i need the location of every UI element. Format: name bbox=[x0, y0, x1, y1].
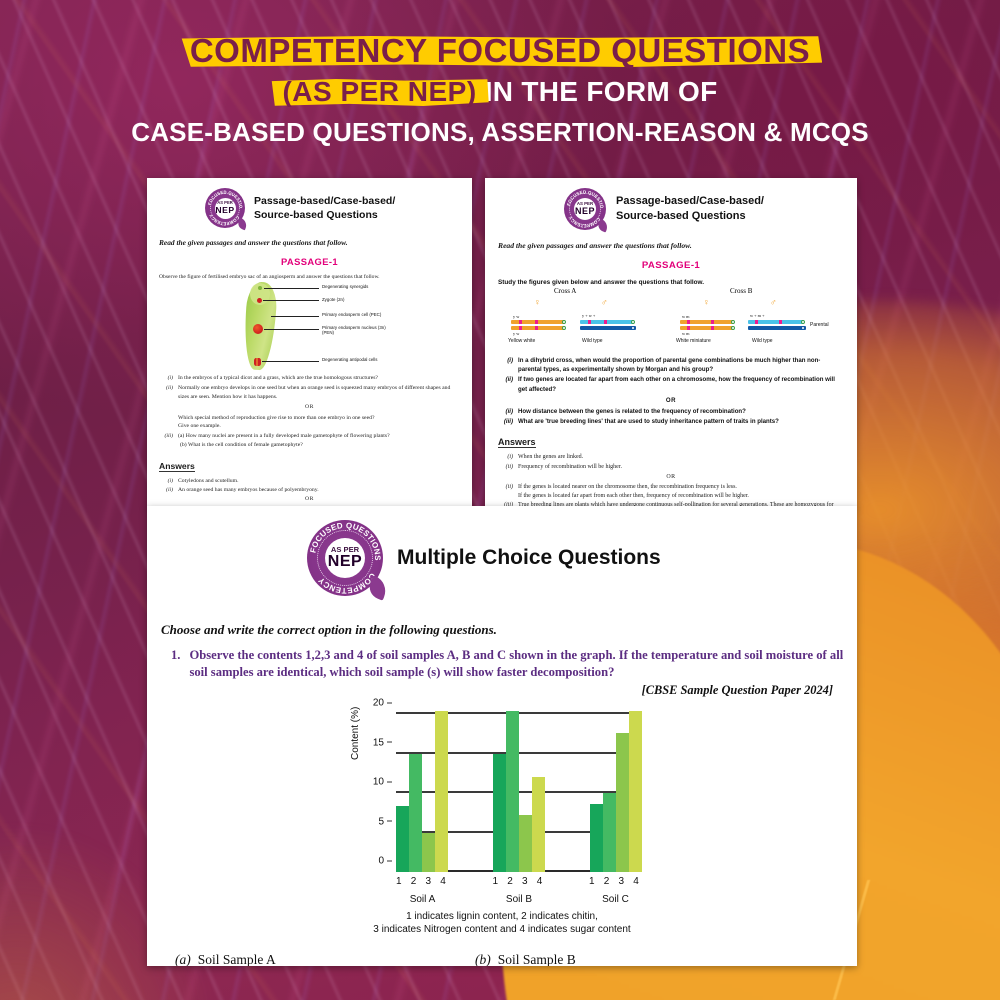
question-item: (iii) What are 'true breeding lines' tha… bbox=[498, 417, 844, 426]
chart-x-axis-labels: 1 2 3 4Soil A1 2 3 4Soil B1 2 3 4Soil C bbox=[396, 876, 642, 905]
chart-y-tick: 15 bbox=[373, 737, 392, 748]
chart-bar bbox=[435, 711, 448, 872]
header-line-3: CASE-BASED QUESTIONS, ASSERTION-REASON &… bbox=[131, 116, 869, 148]
centromere-icon bbox=[562, 326, 566, 330]
right-card-header: FOCUSED QUESTIONS COMPETENCY AS PER NEP … bbox=[498, 188, 844, 230]
nep-badge: FOCUSED QUESTIONS COMPETENCY AS PER NEP bbox=[307, 520, 383, 596]
chart-group-soil-c bbox=[590, 714, 642, 872]
female-symbol-icon: ♀ bbox=[534, 297, 541, 307]
label-zygote: Zygote (2n) bbox=[322, 297, 344, 302]
right-figure-intro: Study the figures given below and answer… bbox=[498, 279, 844, 286]
question-text: Which special method of reproduction giv… bbox=[178, 414, 460, 422]
question-text: (a) How many nuclei are present in a ful… bbox=[178, 432, 390, 440]
zygote-dot bbox=[257, 298, 262, 303]
cross-b-label: Cross B bbox=[730, 287, 752, 295]
mcq-options: (a) Soil Sample A (b) Soil Sample B (c) … bbox=[175, 952, 775, 966]
left-answers-section: Answers bbox=[159, 456, 460, 474]
nep-badge: FOCUSED QUESTIONS COMPETENCY AS PER NEP bbox=[205, 188, 245, 228]
answers-heading: Answers bbox=[498, 437, 536, 448]
centromere-icon bbox=[731, 326, 735, 330]
chart-y-tick: 5 bbox=[378, 816, 392, 827]
mcq-question-1: 1. Observe the contents 1,2,3 and 4 of s… bbox=[171, 647, 857, 681]
question-or-separator: OR bbox=[159, 403, 460, 411]
mcq-option-key: (b) bbox=[475, 952, 491, 966]
chromosome-arm bbox=[748, 326, 806, 330]
cross-b-male-phenotype: Wild type bbox=[752, 338, 773, 344]
leader-line-pec bbox=[271, 316, 319, 317]
cross-a-female-genes-bottom: y w bbox=[513, 331, 519, 336]
chart-x-sub-labels: 1 2 3 4 bbox=[396, 876, 449, 887]
question-text: If two genes are located far apart from … bbox=[518, 375, 844, 393]
cross-a-female-genes-top: y w bbox=[513, 314, 519, 319]
mcq-title: Multiple Choice Questions bbox=[397, 546, 661, 570]
leader-line-synergids bbox=[264, 288, 319, 289]
question-number: (ii) bbox=[159, 384, 173, 392]
label-pec: Primary endosperm cell (PEC) bbox=[322, 312, 382, 317]
question-number: (ii) bbox=[498, 375, 513, 384]
gene-band bbox=[604, 320, 607, 324]
answer-item: (ii) If the genes is located nearer on t… bbox=[498, 483, 844, 492]
right-card-title-line2: Source-based Questions bbox=[616, 209, 764, 224]
chart-bar bbox=[629, 711, 642, 872]
gene-band bbox=[687, 326, 690, 330]
right-questions-list: (i) In a dihybrid cross, when would the … bbox=[498, 356, 844, 426]
header-in-the-form-of: IN THE FORM OF bbox=[485, 75, 718, 109]
question-text: Normally one embryo develops in one seed… bbox=[178, 384, 460, 401]
left-passage-label: PASSAGE-1 bbox=[159, 256, 460, 267]
female-symbol-icon: ♀ bbox=[703, 297, 710, 307]
chart-x-category-label: Soil B bbox=[493, 894, 546, 905]
label-antipodal-cells: Degenerating antipodal cells bbox=[322, 357, 380, 362]
header-nep-highlight-wrap: (AS PER NEP) bbox=[282, 75, 476, 109]
centromere-icon bbox=[801, 326, 805, 330]
answer-text: Frequency of recombination will be highe… bbox=[518, 463, 622, 472]
gene-band bbox=[519, 320, 522, 324]
chart-x-sub-labels: 1 2 3 4 bbox=[589, 876, 642, 887]
chart-bar bbox=[616, 733, 629, 872]
answer-or-separator: OR bbox=[159, 495, 460, 504]
left-card-instruction: Read the given passages and answer the q… bbox=[159, 238, 460, 247]
gene-band bbox=[588, 320, 591, 324]
cross-a-label: Cross A bbox=[554, 287, 576, 295]
answer-text: When the genes are linked. bbox=[518, 453, 583, 462]
cross-b-male-genes: w + m + bbox=[750, 313, 765, 318]
page-header: COMPETENCY FOCUSED QUESTIONS (AS PER NEP… bbox=[0, 0, 1000, 165]
mcq-question-text: Observe the contents 1,2,3 and 4 of soil… bbox=[189, 647, 857, 681]
label-degenerating-synergids: Degenerating synergids bbox=[322, 284, 382, 289]
question-number: (ii) bbox=[498, 407, 513, 416]
cross-a-male-phenotype: Wild type bbox=[582, 338, 603, 344]
question-text: In the embryos of a typical dicot and a … bbox=[178, 374, 378, 382]
gene-band bbox=[519, 326, 522, 330]
cross-b-female-genes-top: w m bbox=[682, 314, 690, 319]
chart-bar bbox=[409, 754, 422, 873]
male-symbol-icon: ♂ bbox=[601, 297, 608, 307]
svg-text:COMPETENCY: COMPETENCY bbox=[208, 213, 240, 226]
left-answers-list: (i) Cotyledons and scutellum. (ii) An or… bbox=[159, 477, 460, 508]
question-or-separator: OR bbox=[498, 396, 844, 405]
gene-band bbox=[687, 320, 690, 324]
question-text: (b) What is the cell condition of female… bbox=[180, 441, 460, 449]
chart-bar bbox=[532, 777, 545, 872]
chart-note-line-2: 3 indicates Nitrogen content and 4 indic… bbox=[147, 923, 857, 936]
header-title-main: COMPETENCY FOCUSED QUESTIONS bbox=[190, 32, 810, 70]
chart-y-tick: 0 bbox=[378, 856, 392, 867]
chart-group-soil-a bbox=[396, 714, 448, 872]
question-number: (i) bbox=[498, 356, 513, 365]
centromere-icon bbox=[631, 326, 635, 330]
embryo-sac-diagram: Degenerating synergids Zygote (2n) Prima… bbox=[159, 280, 460, 372]
mcq-question-number: 1. bbox=[171, 647, 180, 681]
cross-a-male-genes: y + w + bbox=[582, 313, 595, 318]
chart-bar bbox=[396, 806, 409, 872]
chart-y-tick: 10 bbox=[373, 777, 392, 788]
right-card-instruction: Read the given passages and answer the q… bbox=[498, 241, 844, 250]
chart-x-category-label: Soil A bbox=[396, 894, 449, 905]
synergid-dot bbox=[258, 286, 262, 290]
header-line-2: (AS PER NEP) IN THE FORM OF bbox=[282, 75, 717, 109]
chart-bar bbox=[506, 711, 519, 872]
svg-text:COMPETENCY: COMPETENCY bbox=[568, 215, 602, 228]
gene-band bbox=[535, 320, 538, 324]
left-card-header: FOCUSED QUESTIONS COMPETENCY AS PER NEP … bbox=[159, 188, 460, 228]
chart-x-category-label: Soil C bbox=[589, 894, 642, 905]
question-item: (i) In a dihybrid cross, when would the … bbox=[498, 356, 844, 374]
question-number: (iii) bbox=[159, 432, 173, 440]
question-item: (iii) (a) How many nuclei are present in… bbox=[159, 432, 460, 440]
header-nep-text: (AS PER NEP) bbox=[282, 76, 476, 107]
mcq-option-text: Soil Sample A bbox=[198, 952, 276, 966]
leader-line-zygote bbox=[263, 300, 319, 301]
mcq-option-b[interactable]: (b) Soil Sample B bbox=[475, 952, 775, 966]
passage-card-left: FOCUSED QUESTIONS COMPETENCY AS PER NEP … bbox=[147, 178, 472, 508]
question-text: What are 'true breeding lines' that are … bbox=[518, 417, 779, 426]
leader-line-pen bbox=[264, 329, 319, 330]
chart-bar-groups bbox=[396, 714, 642, 872]
label-pen: Primary endosperm nucleus (3n) (PEN) bbox=[322, 325, 386, 336]
right-passage-label: PASSAGE-1 bbox=[498, 260, 844, 271]
centromere-icon bbox=[631, 320, 635, 324]
question-item: (ii) How distance between the genes is r… bbox=[498, 407, 844, 416]
chart-x-group-label: 1 2 3 4Soil A bbox=[396, 876, 449, 905]
answer-item: (i) When the genes are linked. bbox=[498, 453, 844, 462]
svg-text:FOCUSED QUESTIONS: FOCUSED QUESTIONS bbox=[205, 188, 244, 209]
mcq-header: FOCUSED QUESTIONS COMPETENCY AS PER NEP … bbox=[147, 506, 857, 596]
chart-x-sub-labels: 1 2 3 4 bbox=[493, 876, 546, 887]
answer-number: (ii) bbox=[498, 463, 513, 472]
pen-dot bbox=[253, 324, 263, 334]
chart-y-tick: 20 bbox=[373, 698, 392, 709]
answer-or-separator: OR bbox=[498, 473, 844, 482]
answer-number: (i) bbox=[159, 477, 173, 486]
parental-label: Parental bbox=[810, 322, 829, 328]
question-text: In a dihybrid cross, when would the prop… bbox=[518, 356, 844, 374]
gene-band bbox=[711, 326, 714, 330]
centromere-icon bbox=[801, 320, 805, 324]
antipodal-dot bbox=[254, 358, 261, 366]
chart-bar bbox=[422, 833, 435, 873]
right-card-title-line1: Passage-based/Case-based/ bbox=[616, 194, 764, 209]
left-questions-list: (i) In the embryos of a typical dicot an… bbox=[159, 374, 460, 449]
chromosome-arm bbox=[580, 326, 636, 330]
question-number: (i) bbox=[159, 374, 173, 382]
left-card-title: Passage-based/Case-based/ Source-based Q… bbox=[254, 194, 395, 222]
mcq-option-key: (a) bbox=[175, 952, 191, 966]
chart-bar bbox=[603, 793, 616, 872]
mcq-card: FOCUSED QUESTIONS COMPETENCY AS PER NEP … bbox=[147, 506, 857, 966]
cross-a-female-phenotype: Yellow white bbox=[508, 338, 535, 344]
chart-note-line-1: 1 indicates lignin content, 2 indicates … bbox=[147, 910, 857, 923]
centromere-icon bbox=[731, 320, 735, 324]
question-item: (ii) If two genes are located far apart … bbox=[498, 375, 844, 393]
chart-bar bbox=[493, 754, 506, 873]
answer-number: (i) bbox=[498, 453, 513, 462]
gene-band bbox=[535, 326, 538, 330]
mcq-source-citation: [CBSE Sample Question Paper 2024] bbox=[147, 683, 833, 698]
answer-item: (ii) An orange seed has many embryos bec… bbox=[159, 486, 460, 495]
chart-bar bbox=[519, 815, 532, 872]
answer-item: (ii) Frequency of recombination will be … bbox=[498, 463, 844, 472]
left-card-title-line2: Source-based Questions bbox=[254, 208, 395, 222]
left-card-title-line1: Passage-based/Case-based/ bbox=[254, 194, 395, 208]
answer-text: If the genes is located nearer on the ch… bbox=[518, 483, 737, 492]
cross-b-female-genes-bottom: w m bbox=[682, 331, 690, 336]
answer-text: An orange seed has many embryos because … bbox=[178, 486, 319, 495]
chart-plot-area: 0 5 10 15 20 bbox=[396, 714, 642, 872]
gene-band bbox=[711, 320, 714, 324]
chart-bar bbox=[590, 804, 603, 872]
question-item: (ii) Normally one embryo develops in one… bbox=[159, 384, 460, 401]
passage-card-right: FOCUSED QUESTIONS COMPETENCY AS PER NEP … bbox=[485, 178, 857, 508]
chart-x-group-label: 1 2 3 4Soil C bbox=[589, 876, 642, 905]
mcq-option-a[interactable]: (a) Soil Sample A bbox=[175, 952, 475, 966]
question-item: (i) In the embryos of a typical dicot an… bbox=[159, 374, 460, 382]
right-answers-list: (i) When the genes are linked. (ii) Freq… bbox=[498, 453, 844, 508]
right-answers-section: Answers bbox=[498, 432, 844, 450]
nep-badge: FOCUSED QUESTIONS COMPETENCY AS PER NEP bbox=[564, 188, 606, 230]
badge-speech-tail bbox=[596, 219, 609, 233]
header-line-1: COMPETENCY FOCUSED QUESTIONS bbox=[190, 32, 810, 70]
question-number: (iii) bbox=[498, 417, 513, 426]
answer-number: (ii) bbox=[498, 483, 513, 492]
answer-item: (i) Cotyledons and scutellum. bbox=[159, 477, 460, 486]
centromere-icon bbox=[562, 320, 566, 324]
gene-band bbox=[755, 320, 758, 324]
male-symbol-icon: ♂ bbox=[770, 297, 777, 307]
svg-text:FOCUSED QUESTIONS: FOCUSED QUESTIONS bbox=[308, 521, 382, 561]
badge-speech-tail bbox=[236, 218, 248, 231]
question-text: How distance between the genes is relate… bbox=[518, 407, 746, 416]
gene-band bbox=[779, 320, 782, 324]
soil-content-bar-chart: Content (%) 0 5 10 15 20 1 2 3 4Soil A1 … bbox=[352, 708, 652, 898]
chart-group-soil-b bbox=[493, 714, 545, 872]
right-card-title: Passage-based/Case-based/ Source-based Q… bbox=[616, 194, 764, 224]
leader-line-antipodal bbox=[262, 361, 319, 362]
answer-text: If the genes is located far apart from e… bbox=[518, 492, 844, 501]
answers-heading: Answers bbox=[159, 461, 195, 472]
genetics-cross-diagram: Cross A Cross B ♀ y w y w Yellow white ♂… bbox=[498, 286, 844, 354]
answer-text: Cotyledons and scutellum. bbox=[178, 477, 239, 486]
svg-text:FOCUSED QUESTIONS: FOCUSED QUESTIONS bbox=[564, 188, 605, 209]
svg-text:COMPETENCY: COMPETENCY bbox=[316, 571, 377, 595]
mcq-option-text: Soil Sample B bbox=[498, 952, 576, 966]
question-text: Give one example. bbox=[178, 422, 460, 430]
chart-x-group-label: 1 2 3 4Soil B bbox=[493, 876, 546, 905]
answer-number: (ii) bbox=[159, 486, 173, 495]
chart-note: 1 indicates lignin content, 2 indicates … bbox=[147, 910, 857, 936]
chart-y-axis-label: Content (%) bbox=[350, 707, 361, 760]
mcq-instruction: Choose and write the correct option in t… bbox=[161, 622, 857, 638]
cross-b-female-phenotype: White miniature bbox=[676, 338, 711, 344]
